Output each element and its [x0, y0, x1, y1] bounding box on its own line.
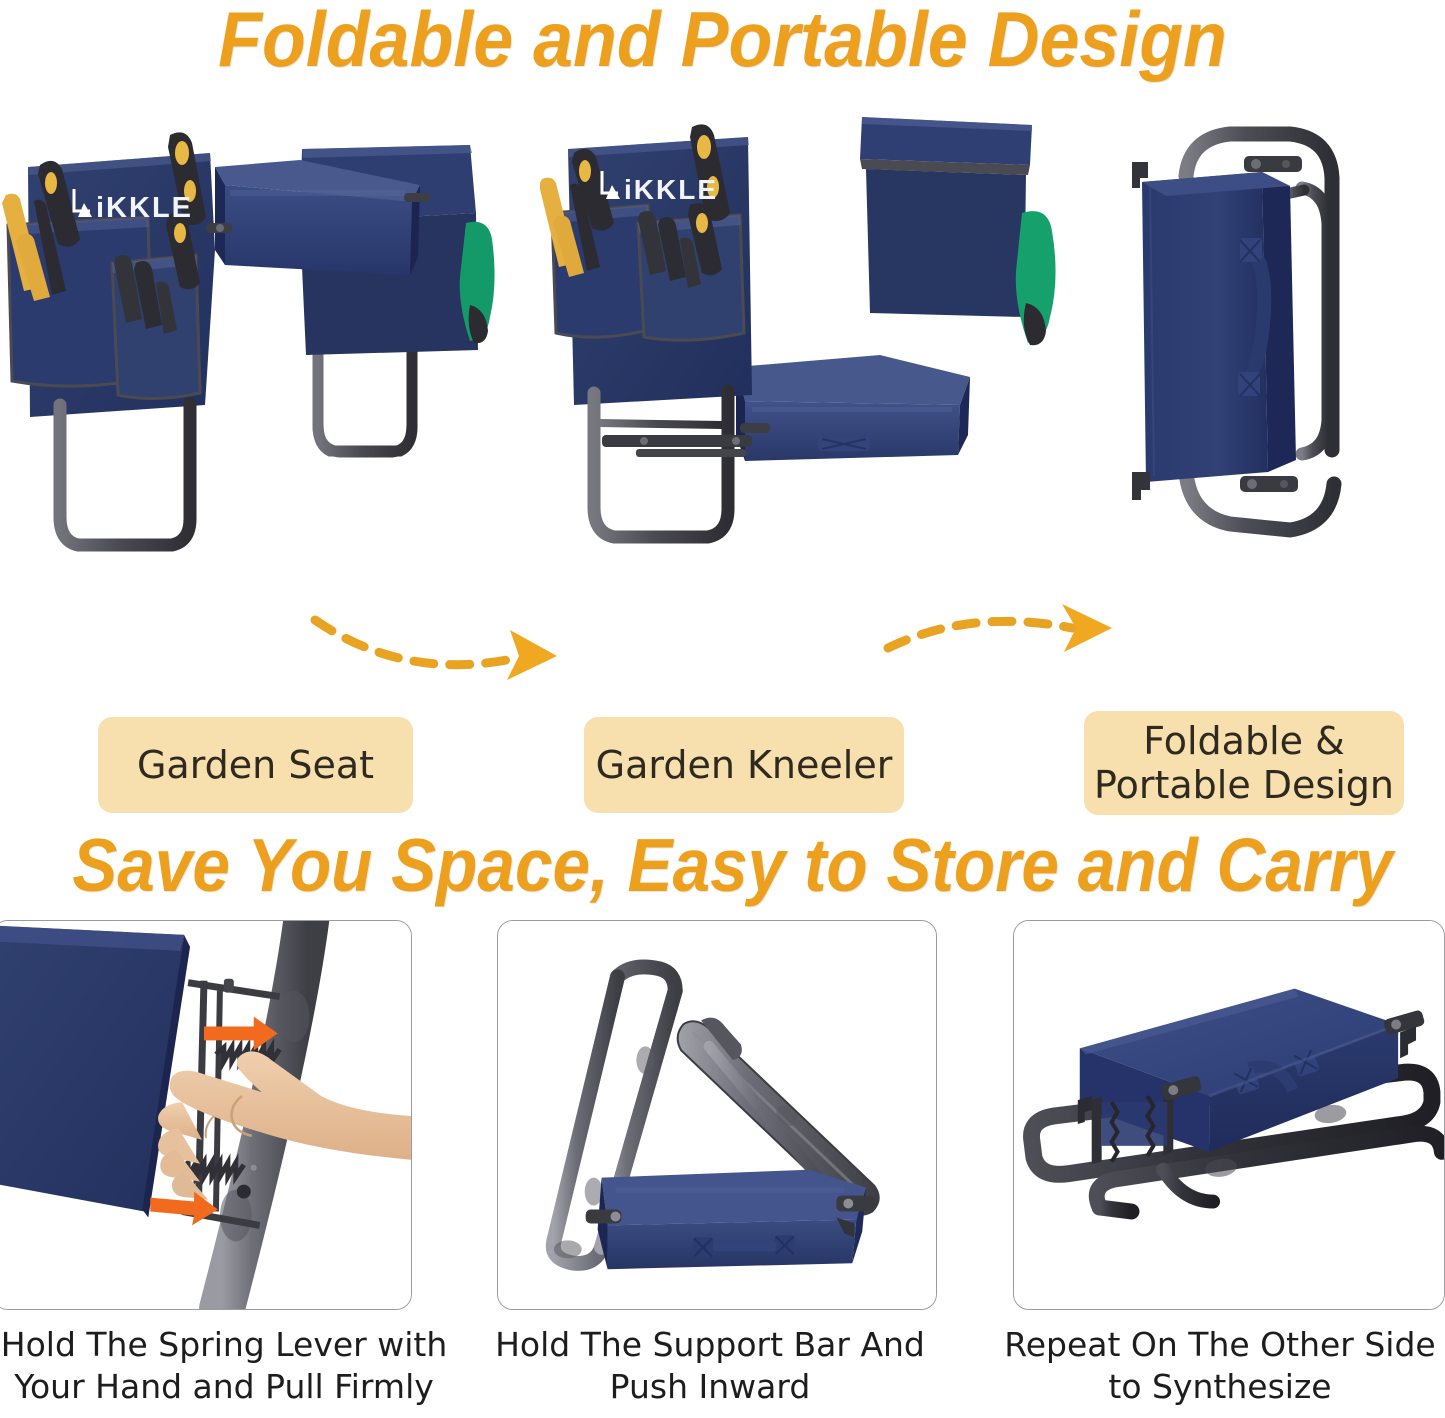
svg-text:iKKLE: iKKLE: [624, 174, 718, 205]
page-title-foldable-portable: Foldable and Portable Design: [58, 0, 1387, 85]
kneeling-cushion: [736, 355, 970, 461]
page-title-save-space: Save You Space, Easy to Store and Carry: [72, 822, 1373, 908]
svg-text:iKKLE: iKKLE: [96, 192, 193, 224]
stage-badge-garden-seat: Garden Seat: [98, 717, 413, 813]
stage-badge-label-line1: Foldable &: [1094, 719, 1394, 763]
frame-legs: [594, 391, 728, 537]
frame-leg-front: [60, 403, 190, 545]
stage-badge-foldable-portable: Foldable & Portable Design: [1084, 711, 1404, 815]
folding-steps-section: Hold The Spring Lever with Your Hand and…: [0, 920, 1445, 1418]
stage-badge-label: Garden Kneeler: [596, 743, 893, 787]
transform-stages-section: iKKLE: [0, 105, 1445, 725]
step-caption-support-bar: Hold The Support Bar And Push Inward: [470, 1324, 950, 1408]
step-caption-line1: Repeat On The Other Side: [995, 1324, 1445, 1366]
step-caption-line2: to Synthesize: [995, 1366, 1445, 1408]
step-image-spring-lever: [0, 920, 412, 1310]
step-caption-line2: Your Hand and Pull Firmly: [0, 1366, 448, 1408]
product-image-garden-kneeler: iKKLE: [540, 105, 1060, 575]
backrest: [860, 117, 1032, 355]
step-caption-other-side: Repeat On The Other Side to Synthesize: [995, 1324, 1445, 1408]
product-image-folded: [1090, 105, 1445, 575]
product-image-garden-seat: iKKLE: [0, 105, 500, 575]
step-caption-spring-lever: Hold The Spring Lever with Your Hand and…: [0, 1324, 448, 1408]
step-image-support-bar: [497, 920, 937, 1310]
step-caption-line1: Hold The Support Bar And: [470, 1324, 950, 1366]
stage-badge-label-line2: Portable Design: [1094, 763, 1394, 807]
step-image-other-side: [1013, 920, 1445, 1310]
folded-pad: [598, 1170, 867, 1269]
step-caption-line1: Hold The Spring Lever with: [0, 1324, 448, 1366]
arrow-seat-to-kneeler: [305, 600, 570, 695]
stage-badge-label: Garden Seat: [137, 743, 374, 787]
folded-pad: [1142, 172, 1296, 482]
step-caption-line2: Push Inward: [470, 1366, 950, 1408]
arrow-kneeler-to-folded: [880, 600, 1120, 695]
stage-badge-garden-kneeler: Garden Kneeler: [584, 717, 904, 813]
